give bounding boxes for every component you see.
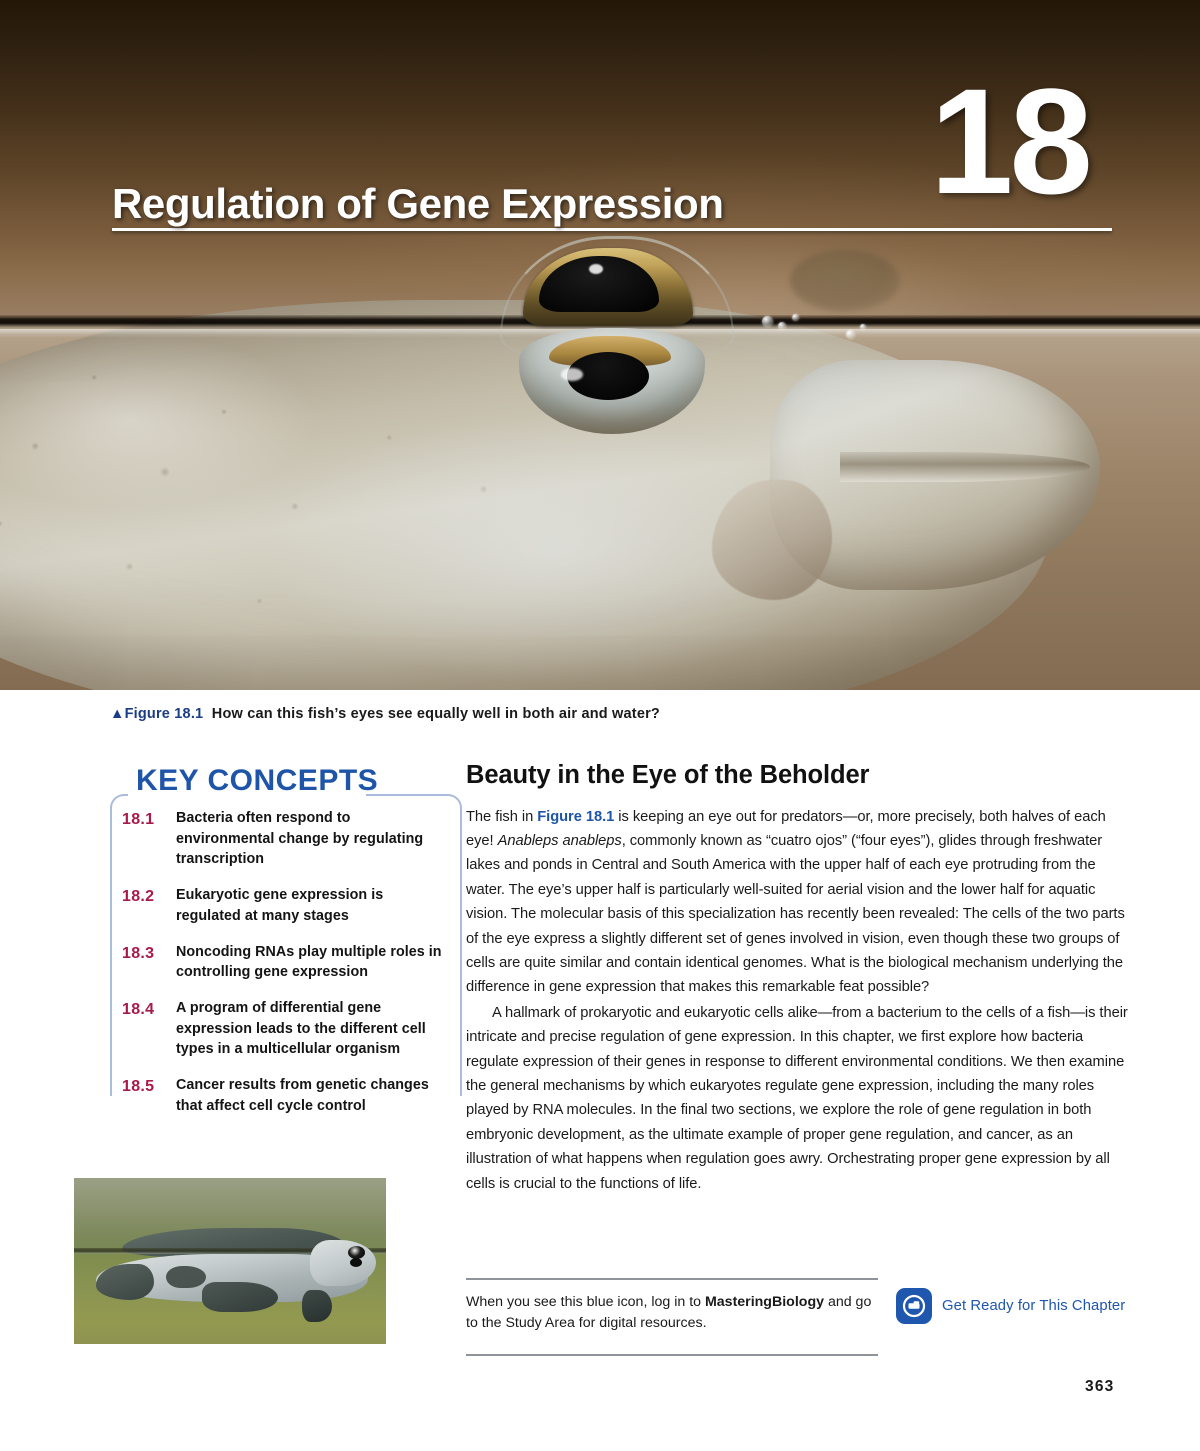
water-bubble bbox=[778, 322, 786, 330]
key-concepts-list: 18.1 Bacteria often respond to environme… bbox=[122, 808, 452, 1132]
thumb-fish-eye-lower bbox=[350, 1258, 362, 1267]
get-ready-link[interactable]: Get Ready for This Chapter bbox=[896, 1288, 1125, 1324]
key-concept-number: 18.2 bbox=[122, 885, 176, 908]
mastering-biology-icon[interactable] bbox=[896, 1288, 932, 1324]
fish-split-eye bbox=[515, 240, 715, 440]
key-concept-text: A program of differential gene expressio… bbox=[176, 998, 452, 1060]
thumb-fish-pelvic-fin bbox=[202, 1282, 278, 1312]
fish-second-eye-blurred bbox=[790, 250, 900, 312]
mastering-rule-bottom bbox=[466, 1354, 878, 1356]
figure-reference-link[interactable]: Figure 18.1 bbox=[537, 809, 614, 825]
fish-pectoral-fin bbox=[712, 480, 832, 600]
mastering-brand: MasteringBiology bbox=[705, 1294, 824, 1310]
title-underline bbox=[112, 228, 1112, 231]
mastering-description: When you see this blue icon, log in to M… bbox=[466, 1292, 886, 1335]
key-concept-number: 18.5 bbox=[122, 1075, 176, 1098]
key-concept-text: Noncoding RNAs play multiple roles in co… bbox=[176, 942, 452, 983]
key-concept-text: Bacteria often respond to environmental … bbox=[176, 808, 452, 870]
paragraph1-part1: The fish in bbox=[466, 809, 537, 825]
chapter-number: 18 bbox=[930, 72, 1089, 210]
figure-caption: ▲Figure 18.1 How can this fish’s eyes se… bbox=[110, 706, 660, 722]
key-concept-item-18-4[interactable]: 18.4 A program of differential gene expr… bbox=[122, 998, 452, 1060]
key-concept-item-18-3[interactable]: 18.3 Noncoding RNAs play multiple roles … bbox=[122, 942, 452, 983]
water-bubble bbox=[762, 316, 773, 327]
figure-arrow-icon: ▲ bbox=[110, 706, 125, 722]
water-bubble bbox=[860, 324, 866, 330]
get-ready-label: Get Ready for This Chapter bbox=[942, 1298, 1125, 1314]
article-paragraph-2: A hallmark of prokaryotic and eukaryotic… bbox=[466, 1001, 1130, 1196]
mastering-biology-block: When you see this blue icon, log in to M… bbox=[466, 1278, 1130, 1356]
key-concept-item-18-1[interactable]: 18.1 Bacteria often respond to environme… bbox=[122, 808, 452, 870]
paragraph1-part3: , commonly known as “cuatro ojos” (“four… bbox=[466, 833, 1125, 995]
figure-label: Figure 18.1 bbox=[125, 706, 204, 722]
mastering-text-part1: When you see this blue icon, log in to bbox=[466, 1294, 705, 1310]
key-concepts-heading: KEY CONCEPTS bbox=[136, 764, 378, 798]
sidebar-fish-thumbnail bbox=[74, 1178, 386, 1344]
thumb-fish-dorsal-fin bbox=[166, 1266, 206, 1288]
figure-caption-text: How can this fish’s eyes see equally wel… bbox=[212, 706, 660, 722]
key-concept-number: 18.4 bbox=[122, 998, 176, 1021]
eye-lower-highlight bbox=[561, 368, 583, 381]
water-bubble bbox=[846, 330, 855, 339]
main-text-column: Beauty in the Eye of the Beholder The fi… bbox=[466, 760, 1130, 1196]
key-concept-text: Eukaryotic gene expression is regulated … bbox=[176, 885, 452, 926]
thumb-fish-tail-fin bbox=[96, 1264, 154, 1300]
mastering-inner: When you see this blue icon, log in to M… bbox=[466, 1280, 1130, 1354]
eye-upper-highlight bbox=[589, 264, 603, 274]
article-heading: Beauty in the Eye of the Beholder bbox=[466, 760, 1130, 791]
key-concept-number: 18.1 bbox=[122, 808, 176, 831]
article-paragraph-1: The fish in Figure 18.1 is keeping an ey… bbox=[466, 805, 1130, 1000]
species-name: Anableps anableps bbox=[498, 833, 622, 849]
thumb-fish-anal-fin bbox=[302, 1290, 332, 1322]
chapter-title: Regulation of Gene Expression bbox=[112, 180, 724, 228]
page-number: 363 bbox=[1085, 1378, 1114, 1396]
key-concept-text: Cancer results from genetic changes that… bbox=[176, 1075, 452, 1116]
key-concept-item-18-5[interactable]: 18.5 Cancer results from genetic changes… bbox=[122, 1075, 452, 1116]
key-concept-number: 18.3 bbox=[122, 942, 176, 965]
water-bubble bbox=[792, 314, 799, 321]
key-concept-item-18-2[interactable]: 18.2 Eukaryotic gene expression is regul… bbox=[122, 885, 452, 926]
